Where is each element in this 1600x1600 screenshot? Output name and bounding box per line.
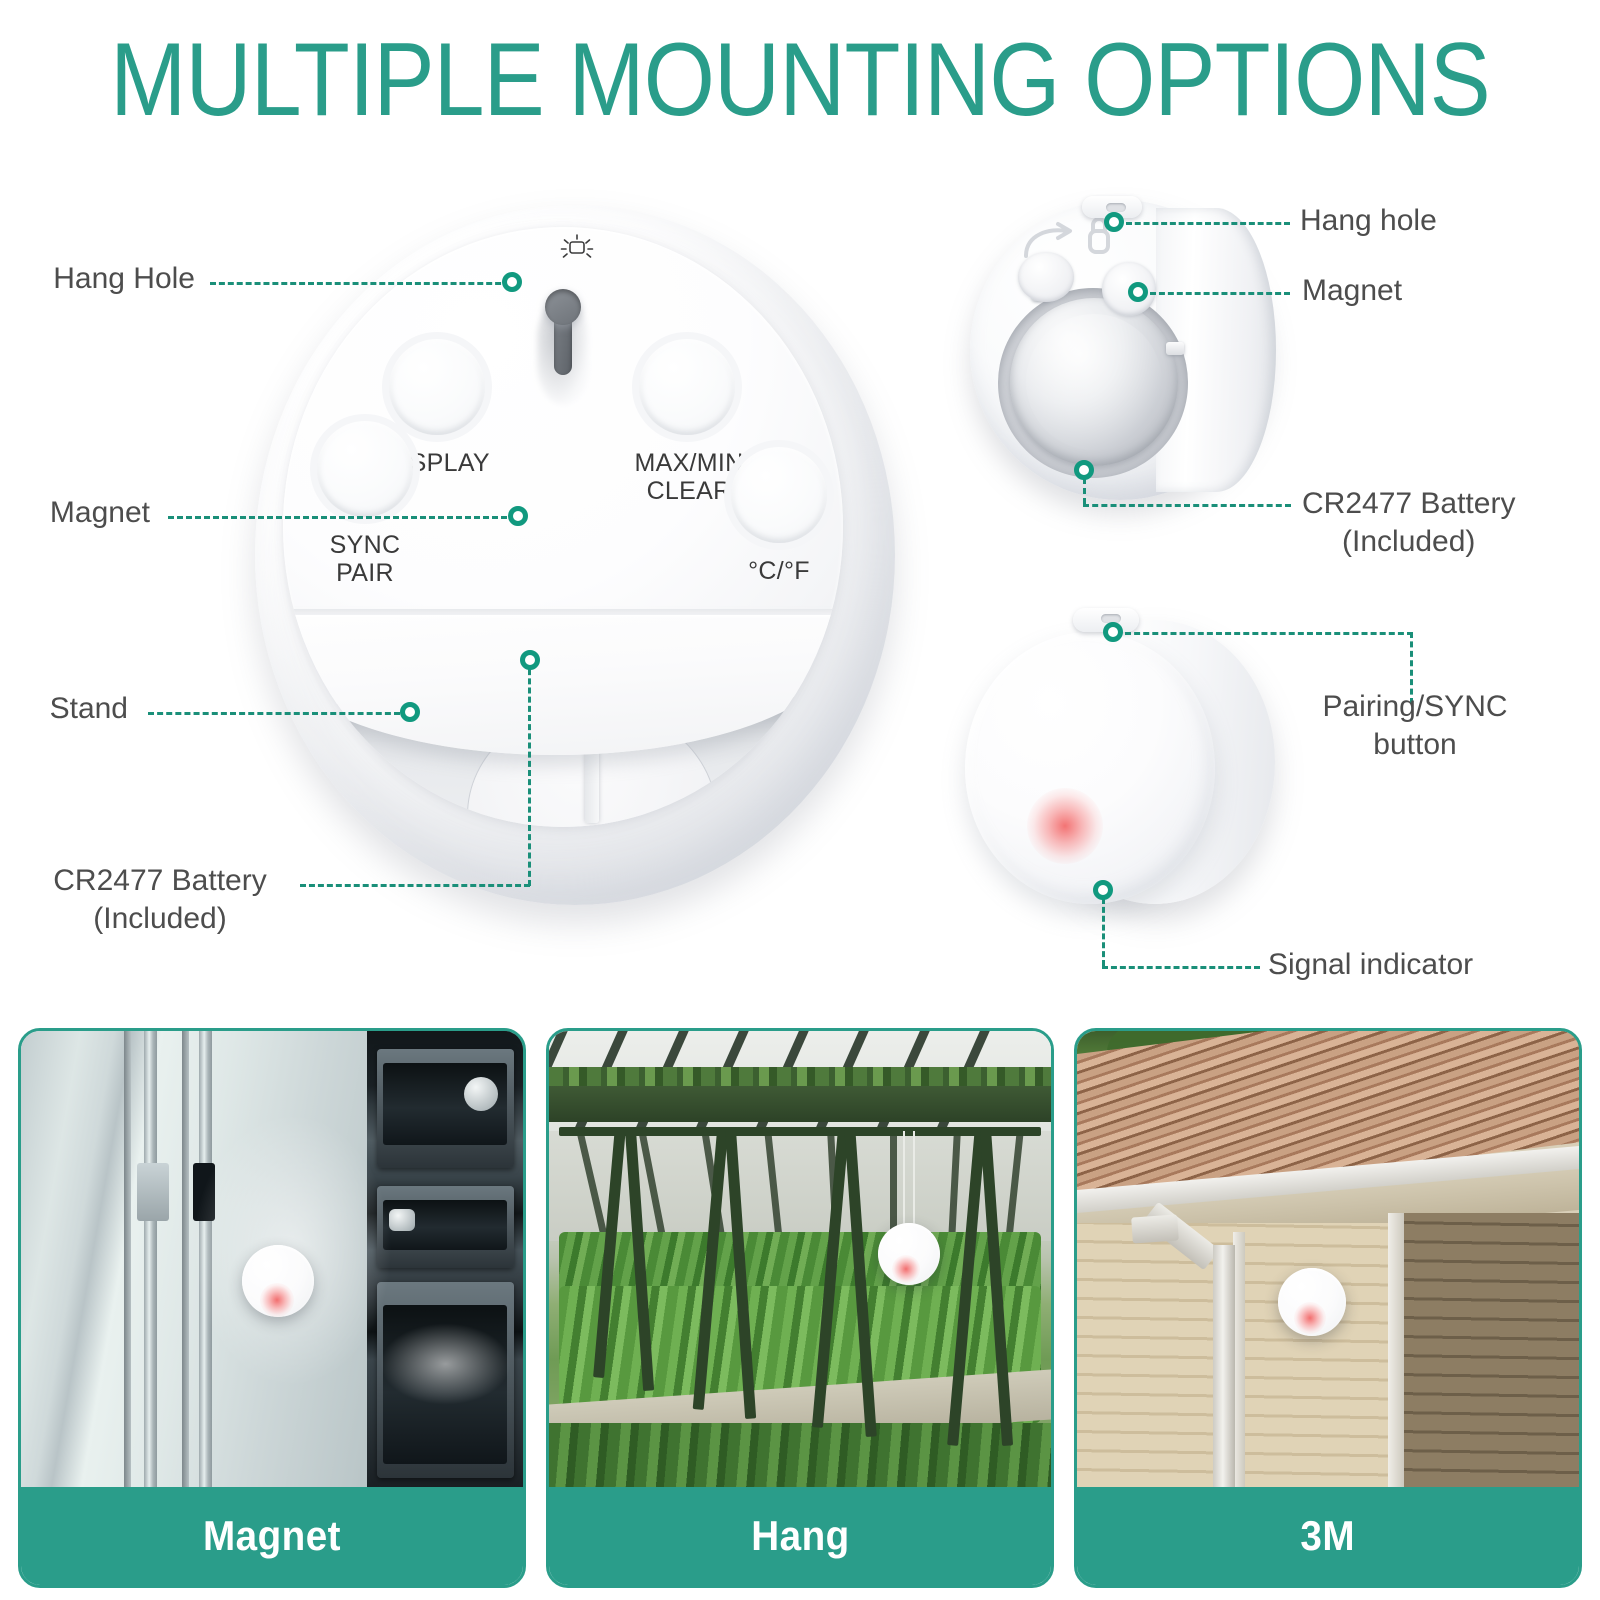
sync-label-line1: SYNC — [283, 531, 447, 559]
leader-battery-back-h — [1083, 504, 1291, 507]
panel-3m[interactable]: 3M — [1074, 1028, 1582, 1588]
marker-magnet-back — [1128, 282, 1148, 302]
leader-magnet-main — [168, 516, 516, 519]
panel-magnet[interactable]: Magnet — [18, 1028, 526, 1588]
marker-signal-indicator — [1093, 880, 1113, 900]
battery-back-line1: CR2477 Battery — [1302, 485, 1515, 523]
panel-caption-hang: Hang — [549, 1487, 1051, 1585]
label-hang-hole-back: Hang hole — [1300, 202, 1437, 240]
panel-caption-3m: 3M — [1077, 1487, 1579, 1585]
hang-hole-keyhole — [535, 289, 591, 407]
panel-magnet-caption-text: Magnet — [203, 1512, 341, 1560]
signal-indicator-led — [1027, 788, 1103, 864]
panel-3m-caption-text: 3M — [1301, 1512, 1356, 1560]
leader-hang-hole-back — [1126, 222, 1290, 225]
photo-refrigerator — [21, 1031, 523, 1487]
max-min-clear-button[interactable] — [639, 339, 735, 435]
sync-label-line2: PAIR — [283, 559, 447, 587]
photo-greenhouse — [549, 1031, 1051, 1487]
leader-battery-main-h — [300, 884, 530, 887]
cr2477-coin-cell — [1010, 298, 1178, 466]
marker-pairing-sync — [1103, 622, 1123, 642]
label-stand-main: Stand — [20, 690, 128, 728]
leader-signal-indicator-v — [1102, 898, 1105, 966]
celsius-fahrenheit-button[interactable] — [731, 447, 827, 543]
pairing-sync-line2: button — [1300, 726, 1530, 764]
front-view-illustration — [965, 610, 1285, 920]
marker-battery-back — [1074, 460, 1094, 480]
panel-hang[interactable]: Hang — [546, 1028, 1054, 1588]
mounting-options-panels: Magnet — [0, 1028, 1600, 1588]
label-pairing-sync: Pairing/SYNC button — [1300, 688, 1530, 764]
battery-back-line2: (Included) — [1302, 523, 1515, 561]
label-magnet-back: Magnet — [1302, 272, 1402, 310]
label-battery-main: CR2477 Battery (Included) — [20, 862, 300, 938]
sensor-puck-on-siding — [1278, 1268, 1346, 1336]
marker-hang-hole-main — [502, 272, 522, 292]
battery-main-line2: (Included) — [20, 900, 300, 938]
sensor-puck-on-fridge — [242, 1245, 314, 1317]
light-sensor-icon — [555, 233, 599, 263]
label-signal-indicator: Signal indicator — [1268, 946, 1473, 984]
panel-hang-caption-text: Hang — [751, 1512, 849, 1560]
battery-clip-right — [1166, 342, 1184, 355]
product-diagram: DISPLAY SYNC PAIR MAX/MIN CLEAR °C/°F — [0, 160, 1600, 1020]
page-title: MULTIPLE MOUNTING OPTIONS — [96, 28, 1504, 132]
display-button[interactable] — [389, 339, 485, 435]
panel-caption-magnet: Magnet — [21, 1487, 523, 1585]
sync-pair-button[interactable] — [317, 421, 413, 517]
label-battery-back: CR2477 Battery (Included) — [1302, 485, 1515, 561]
battery-main-line1: CR2477 Battery — [20, 862, 300, 900]
leader-magnet-back — [1150, 292, 1290, 295]
sync-pair-button-label: SYNC PAIR — [283, 531, 447, 587]
leader-signal-indicator-h — [1102, 966, 1260, 969]
rotate-arrow-icon — [1014, 218, 1078, 260]
photo-house-exterior — [1077, 1031, 1579, 1487]
label-hang-hole-main: Hang Hole — [20, 260, 195, 298]
back-view-illustration — [970, 200, 1280, 510]
device-back-face: DISPLAY SYNC PAIR MAX/MIN CLEAR °C/°F — [283, 227, 843, 827]
main-device-illustration: DISPLAY SYNC PAIR MAX/MIN CLEAR °C/°F — [255, 205, 895, 930]
leader-battery-back-v — [1083, 478, 1086, 504]
sensor-puck-hanging — [878, 1223, 940, 1285]
marker-hang-hole-back — [1104, 212, 1124, 232]
front-view-face — [965, 632, 1215, 904]
leader-pairing-sync-h — [1125, 632, 1413, 635]
leader-hang-hole-main — [210, 282, 510, 285]
hang-hole-opening-back — [1106, 203, 1126, 212]
marker-magnet-main — [508, 506, 528, 526]
pairing-sync-line1: Pairing/SYNC — [1300, 688, 1530, 726]
marker-battery-main — [520, 650, 540, 670]
marker-stand-main — [400, 702, 420, 722]
leader-battery-main-v — [528, 660, 531, 886]
leader-stand-main — [148, 712, 400, 715]
celsius-fahrenheit-button-label: °C/°F — [691, 557, 843, 585]
label-magnet-main: Magnet — [20, 494, 150, 532]
